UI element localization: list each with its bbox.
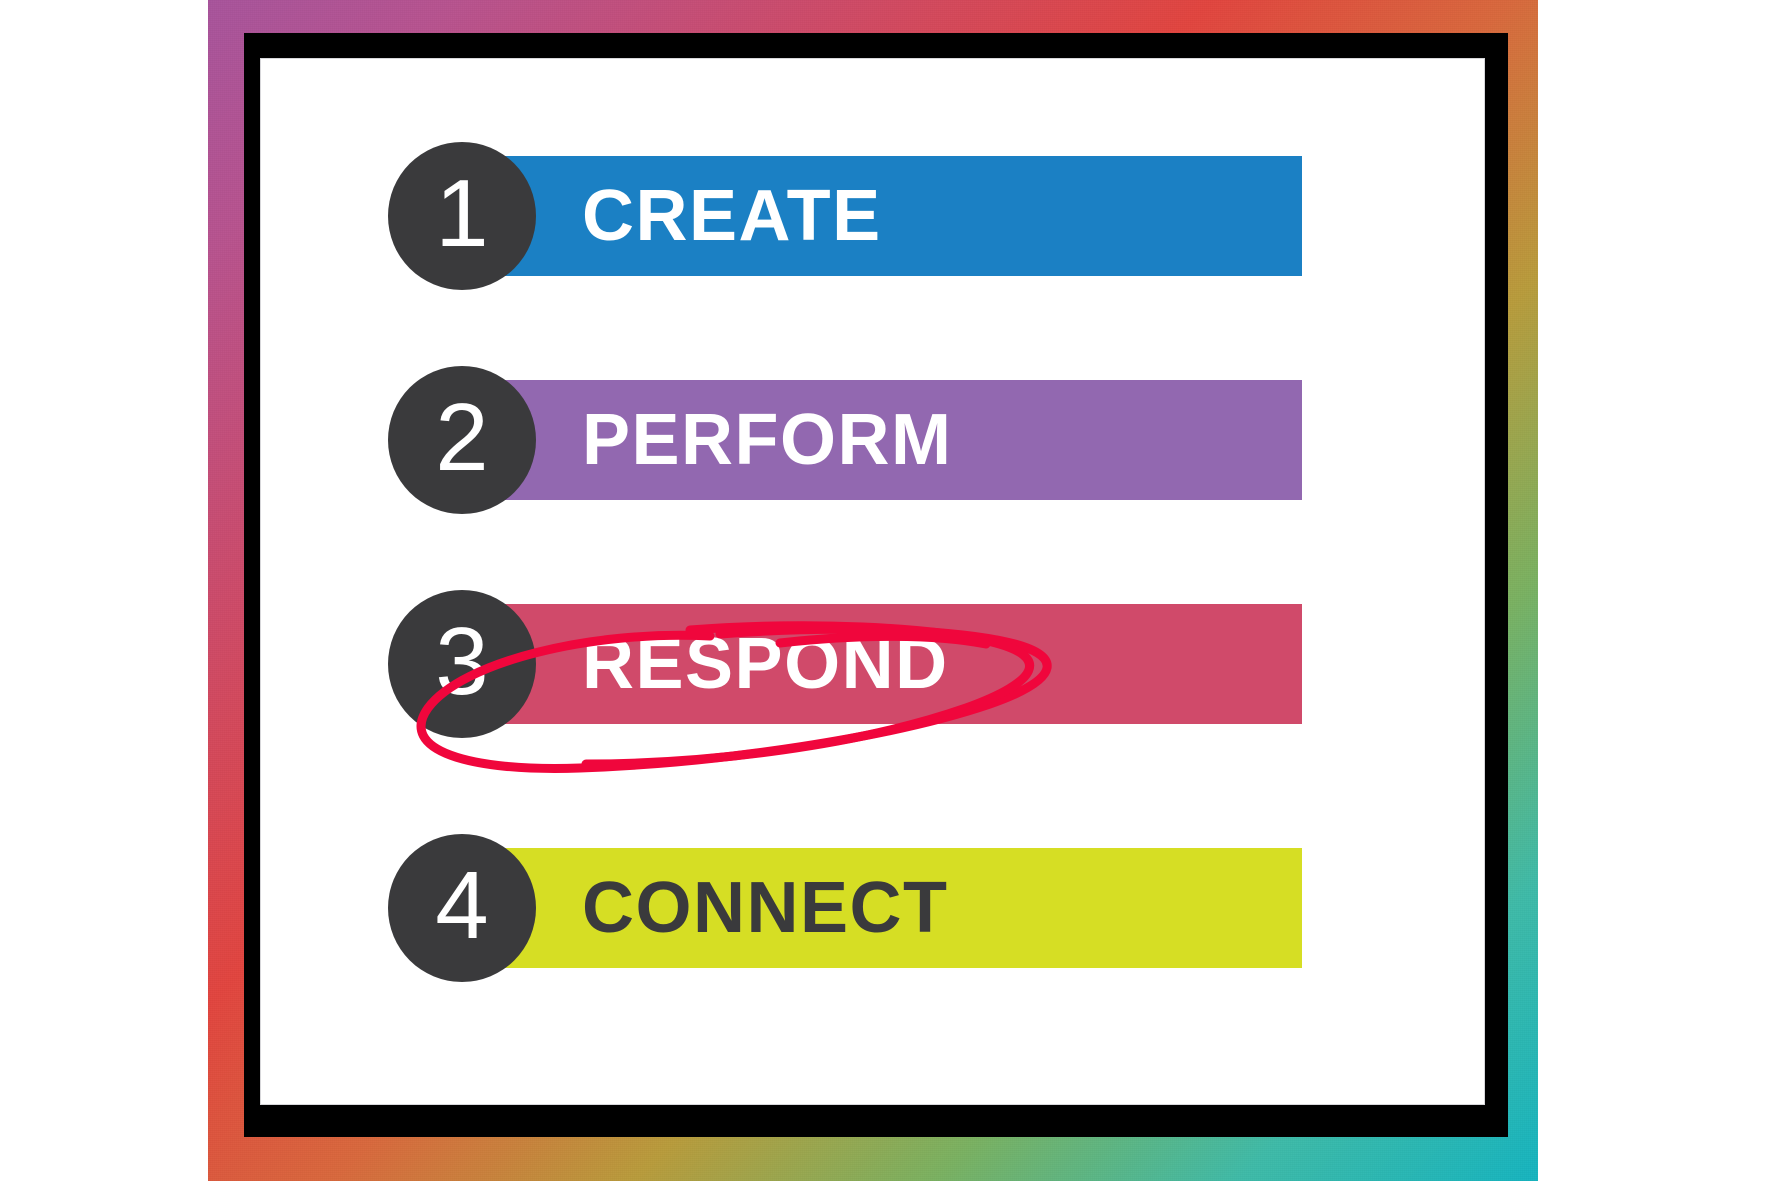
poster-image: 1 CREATE 2 PERFORM 3 [208, 0, 1538, 1181]
step-badge-4: 4 [388, 834, 536, 982]
white-card: 1 CREATE 2 PERFORM 3 [260, 58, 1485, 1105]
step-number-2: 2 [435, 390, 488, 486]
step-label-4: CONNECT [582, 872, 949, 944]
step-label-1: CREATE [582, 180, 882, 252]
step-row-3[interactable]: 3 RESPOND [260, 604, 1485, 724]
step-badge-3: 3 [388, 590, 536, 738]
step-row-2[interactable]: 2 PERFORM [260, 380, 1485, 500]
step-badge-2: 2 [388, 366, 536, 514]
step-row-1[interactable]: 1 CREATE [260, 156, 1485, 276]
step-number-4: 4 [435, 858, 488, 954]
step-badge-1: 1 [388, 142, 536, 290]
step-label-3: RESPOND [582, 628, 949, 700]
step-number-1: 1 [435, 166, 488, 262]
step-number-3: 3 [435, 614, 488, 710]
black-picture-frame: 1 CREATE 2 PERFORM 3 [244, 33, 1508, 1137]
page-canvas: 1 CREATE 2 PERFORM 3 [0, 0, 1772, 1181]
step-row-4[interactable]: 4 CONNECT [260, 848, 1485, 968]
step-label-2: PERFORM [582, 404, 953, 476]
